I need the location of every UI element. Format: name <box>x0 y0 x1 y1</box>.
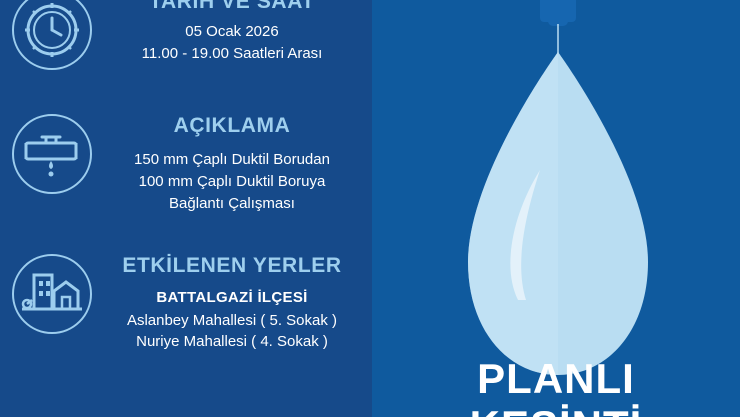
description-line-1: 150 mm Çaplı Duktil Borudan <box>104 149 360 171</box>
time-range-value: 11.00 - 19.00 Saatleri Arası <box>104 43 360 65</box>
headline-line-1: PLANLI <box>372 355 740 403</box>
district-name: BATTALGAZİ İLÇESİ <box>104 287 360 310</box>
info-block-affected-places: ETKİLENEN YERLER BATTALGAZİ İLÇESİ Aslan… <box>0 248 372 353</box>
affected-street-1: Aslanbey Mahallesi ( 5. Sokak ) <box>104 310 360 332</box>
headline-line-2: KESİNTİ <box>372 402 740 417</box>
icon-container-date-time <box>0 0 104 70</box>
clock-icon <box>12 0 92 70</box>
text-column-affected-places: ETKİLENEN YERLER BATTALGAZİ İLÇESİ Aslan… <box>104 248 372 353</box>
buildings-icon <box>12 254 92 334</box>
water-outage-poster: TARİH VE SAAT 05 Ocak 2026 11.00 - 19.00… <box>0 0 740 417</box>
leaking-pipe-icon <box>12 114 92 194</box>
text-column-description: AÇIKLAMA 150 mm Çaplı Duktil Borudan 100… <box>104 108 372 214</box>
icon-container-description <box>0 108 104 194</box>
description-line-2: 100 mm Çaplı Duktil Boruya <box>104 171 360 193</box>
info-block-description: AÇIKLAMA 150 mm Çaplı Duktil Borudan 100… <box>0 108 372 214</box>
affected-street-2: Nuriye Mahallesi ( 4. Sokak ) <box>104 331 360 353</box>
icon-container-affected-places <box>0 248 104 334</box>
block-title-affected-places: ETKİLENEN YERLER <box>104 254 360 277</box>
droplet-graphic: PLANLI KESİNTİ <box>372 0 740 417</box>
description-line-3: Bağlantı Çalışması <box>104 193 360 215</box>
block-title-description: AÇIKLAMA <box>104 114 360 137</box>
text-column-date-time: TARİH VE SAAT 05 Ocak 2026 11.00 - 19.00… <box>104 0 372 65</box>
block-title-date-time: TARİH VE SAAT <box>104 0 360 13</box>
info-block-date-time: TARİH VE SAAT 05 Ocak 2026 11.00 - 19.00… <box>0 0 372 70</box>
date-value: 05 Ocak 2026 <box>104 21 360 43</box>
